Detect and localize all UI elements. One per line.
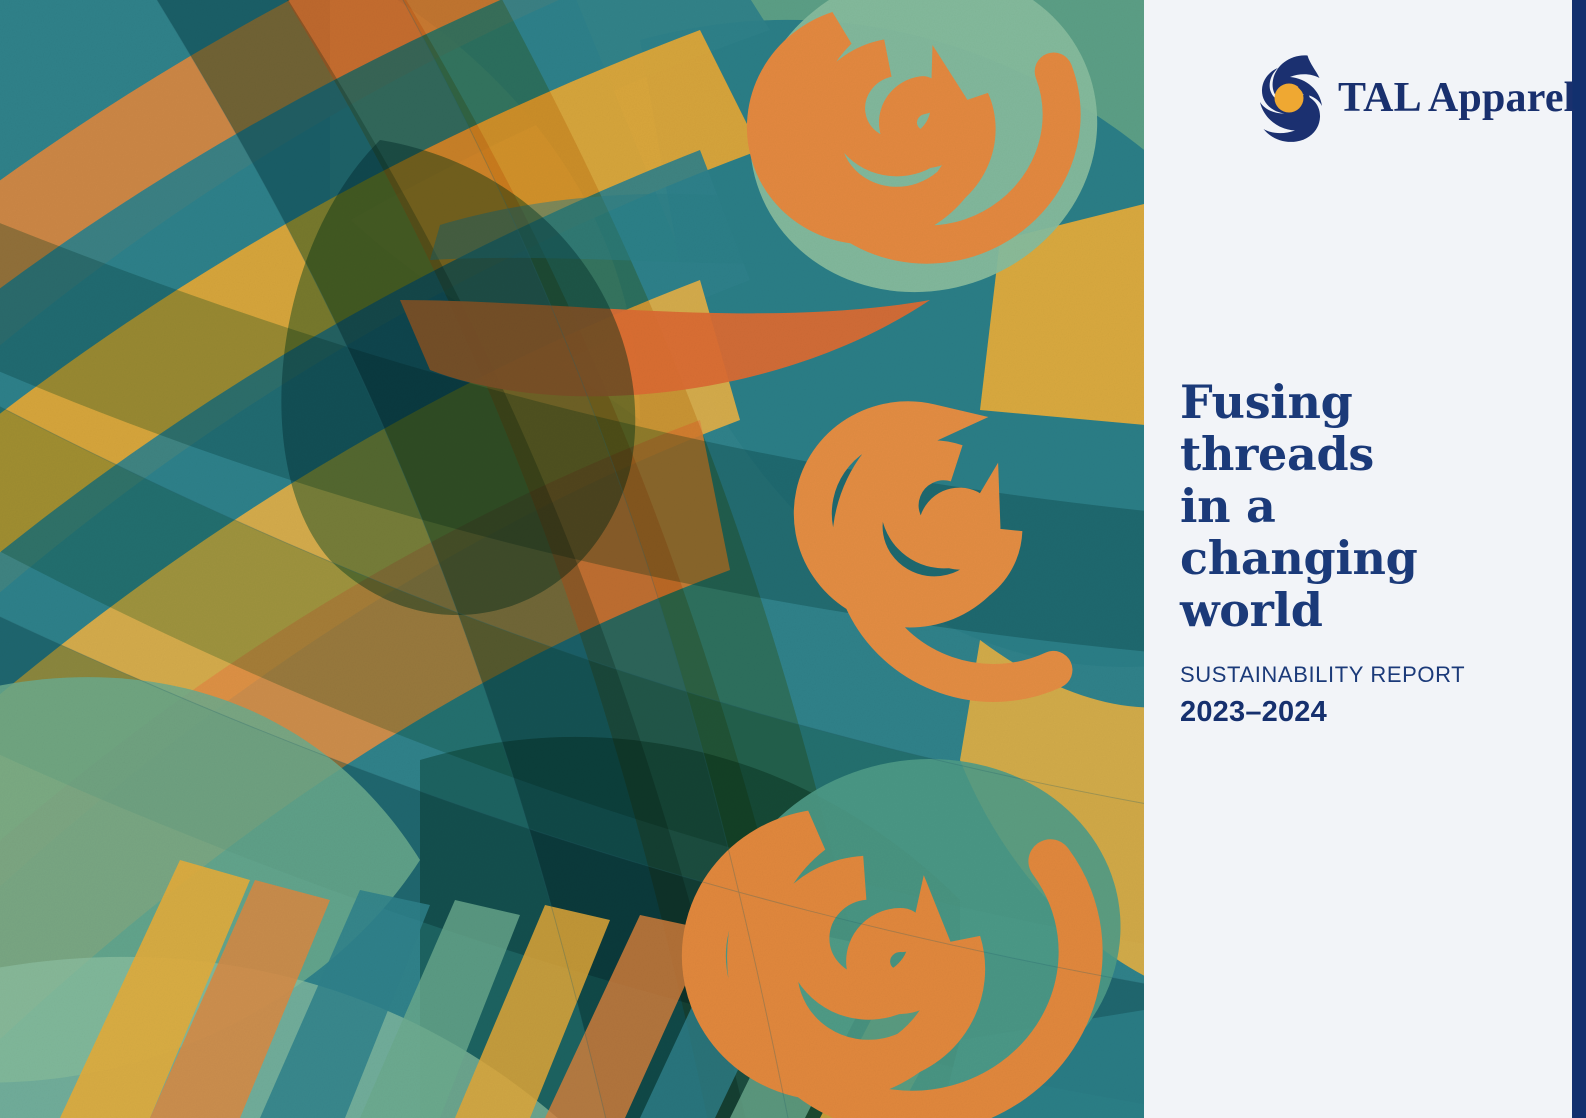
cover-artwork [0, 0, 1144, 1118]
tal-swirl-flame-icon [1258, 52, 1324, 144]
cover-page: TAL Apparel Fusing threads in a changing… [0, 0, 1586, 1118]
headline-line-1: Fusing threads [1180, 376, 1510, 480]
cover-headline: Fusing threads in a changing world [1180, 376, 1510, 636]
report-year-range: 2023–2024 [1180, 696, 1510, 729]
report-type-label: SUSTAINABILITY REPORT [1180, 662, 1510, 688]
right-edge-stripe [1572, 0, 1586, 1118]
cover-title-block: Fusing threads in a changing world SUSTA… [1180, 376, 1510, 729]
brand-wordmark: TAL Apparel [1338, 77, 1576, 119]
abstract-artwork-svg [0, 0, 1144, 1118]
headline-line-3: world [1180, 584, 1510, 636]
brand-logo[interactable]: TAL Apparel [1258, 52, 1576, 144]
headline-line-2: in a changing [1180, 480, 1510, 584]
